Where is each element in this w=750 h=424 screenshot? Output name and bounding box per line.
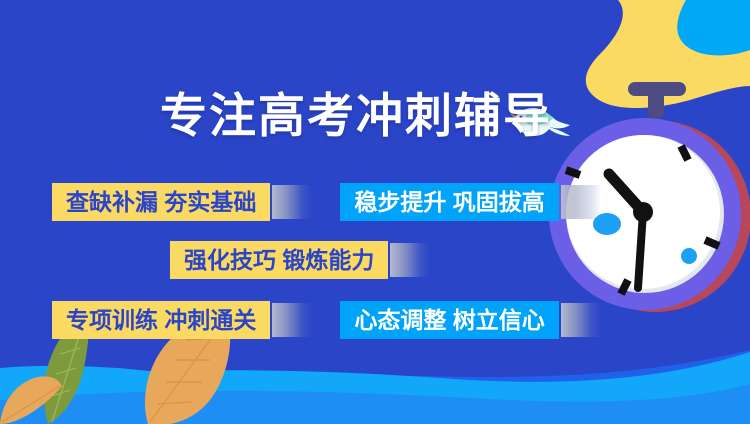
badge-spacer	[312, 320, 340, 321]
badge-wen-bu-ti-sheng: 稳步提升 巩固拔高	[340, 183, 558, 221]
banner-root: 专注高考冲刺辅导 查缺补漏 夯实基础 稳步提升 巩固拔高 强化技巧 锻炼能力 专…	[0, 0, 750, 424]
badge-zhuan-xiang-xun-lian: 专项训练 冲刺通关	[52, 301, 270, 339]
badge-spacer	[312, 202, 340, 203]
badge-qiang-hua-ji-qiao: 强化技巧 锻炼能力	[170, 241, 388, 279]
left-cyan-wave	[0, 366, 158, 392]
bottom-wave-cyan-mid	[0, 384, 750, 424]
badge-streak-decoration	[390, 243, 430, 277]
badge-streak-decoration	[561, 303, 601, 337]
badge-row-1: 查缺补漏 夯实基础 稳步提升 巩固拔高	[52, 183, 601, 221]
bottom-wave-dark-blue	[0, 350, 750, 424]
badge-row-2: 强化技巧 锻炼能力	[170, 241, 430, 279]
badge-row-3: 专项训练 冲刺通关 心态调整 树立信心	[52, 301, 601, 339]
badge-streak-decoration	[272, 303, 312, 337]
clock-center-pin	[633, 202, 653, 222]
cyan-blob-shape	[677, 0, 750, 55]
tan-leaf-small-icon	[0, 376, 62, 424]
badge-xin-tai-tiao-zheng: 心态调整 树立信心	[340, 301, 558, 339]
badge-streak-decoration	[561, 185, 601, 219]
badge-cha-que-bu-lou: 查缺补漏 夯实基础	[52, 183, 270, 221]
page-title: 专注高考冲刺辅导	[160, 85, 540, 147]
bottom-wave-cyan-bright	[0, 352, 750, 424]
clock-dot-small	[681, 248, 697, 264]
badge-streak-decoration	[272, 185, 312, 219]
stopwatch-stem	[628, 82, 686, 118]
